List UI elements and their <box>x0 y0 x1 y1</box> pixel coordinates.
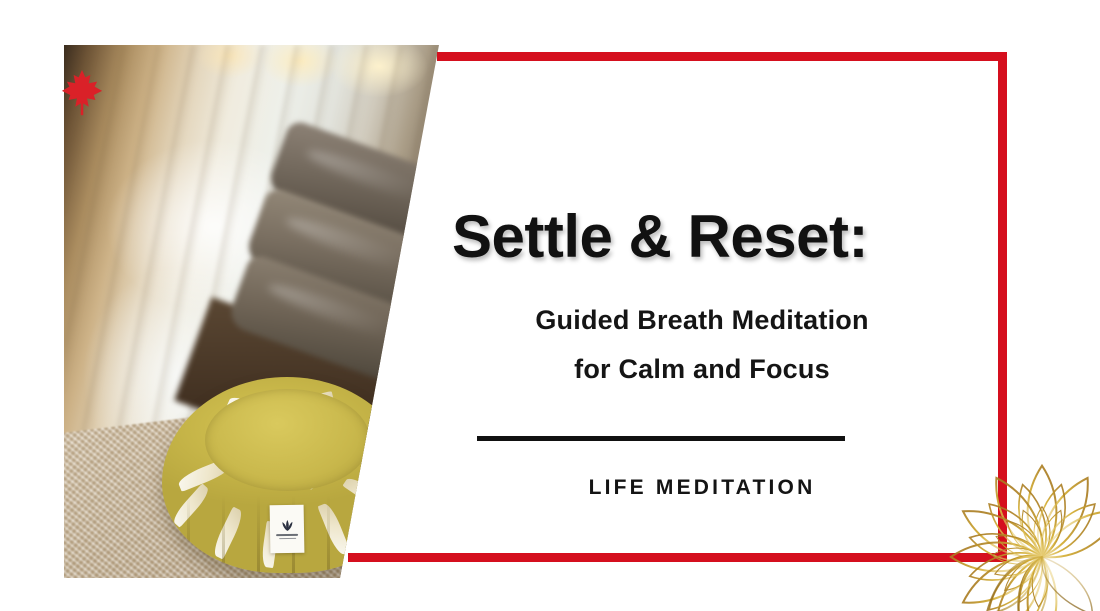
leaf-motif <box>342 474 391 514</box>
zafu-pleat <box>327 495 330 573</box>
subtitle-line-1: Guided Breath Meditation <box>437 305 967 336</box>
brand-label: LIFE MEDITATION <box>437 476 967 500</box>
frame-bottom-edge <box>348 553 1007 562</box>
lotus-mark-icon <box>279 519 294 532</box>
zafu-pleat <box>187 495 190 573</box>
slide-canvas: Settle & Reset: Guided Breath Meditation… <box>0 0 1100 611</box>
leaf-motif <box>317 501 350 556</box>
maple-leaf-icon <box>61 69 103 116</box>
frame-top-edge <box>437 52 1007 61</box>
hero-photo <box>64 45 439 578</box>
brand-tag <box>270 505 305 554</box>
divider-rule <box>477 436 845 441</box>
subtitle-line-2: for Calm and Focus <box>437 354 967 385</box>
tag-text-line <box>276 534 298 536</box>
zafu-pleat <box>222 495 225 573</box>
leaf-motif <box>170 483 212 527</box>
tag-text-line <box>279 538 296 540</box>
leaf-motif <box>210 507 245 560</box>
page-title: Settle & Reset: <box>452 207 992 267</box>
cushion-highlight <box>265 277 435 355</box>
zafu-cushion <box>162 377 412 573</box>
zafu-top-panel <box>205 389 370 491</box>
frame-right-edge <box>998 52 1007 562</box>
zafu-pleat <box>257 495 260 573</box>
